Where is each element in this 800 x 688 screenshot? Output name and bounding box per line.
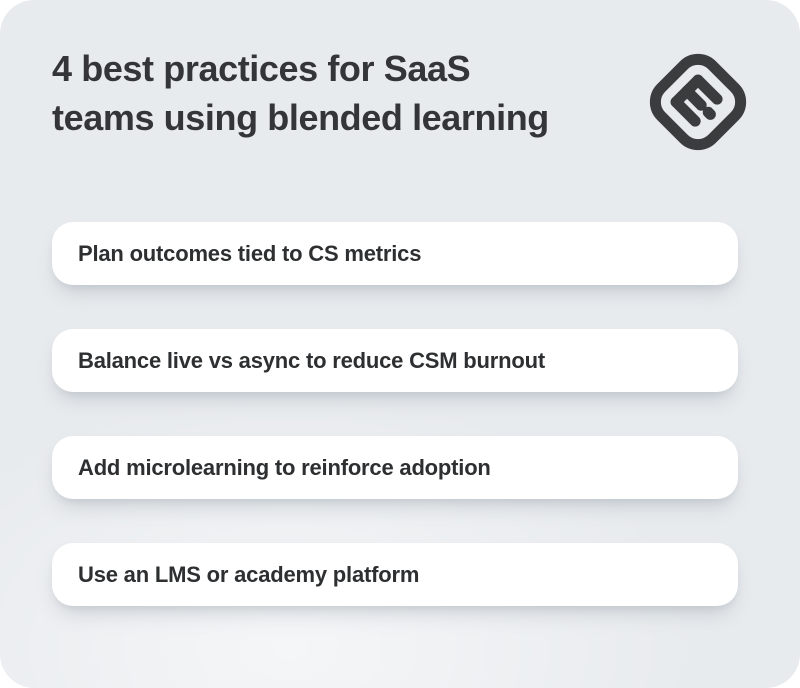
list-item[interactable]: Balance live vs async to reduce CSM burn… xyxy=(52,329,738,392)
best-practices-list: Plan outcomes tied to CS metrics Balance… xyxy=(52,222,738,606)
list-item-label: Plan outcomes tied to CS metrics xyxy=(78,241,421,267)
list-item-label: Balance live vs async to reduce CSM burn… xyxy=(78,348,545,374)
list-item[interactable]: Add microlearning to reinforce adoption xyxy=(52,436,738,499)
brand-logo-icon xyxy=(646,50,750,154)
list-item[interactable]: Use an LMS or academy platform xyxy=(52,543,738,606)
list-item-label: Add microlearning to reinforce adoption xyxy=(78,455,491,481)
list-item-label: Use an LMS or academy platform xyxy=(78,562,419,588)
header: 4 best practices for SaaS teams using bl… xyxy=(52,44,756,154)
list-item[interactable]: Plan outcomes tied to CS metrics xyxy=(52,222,738,285)
page-title: 4 best practices for SaaS teams using bl… xyxy=(52,44,549,142)
infographic-canvas: 4 best practices for SaaS teams using bl… xyxy=(0,0,800,688)
